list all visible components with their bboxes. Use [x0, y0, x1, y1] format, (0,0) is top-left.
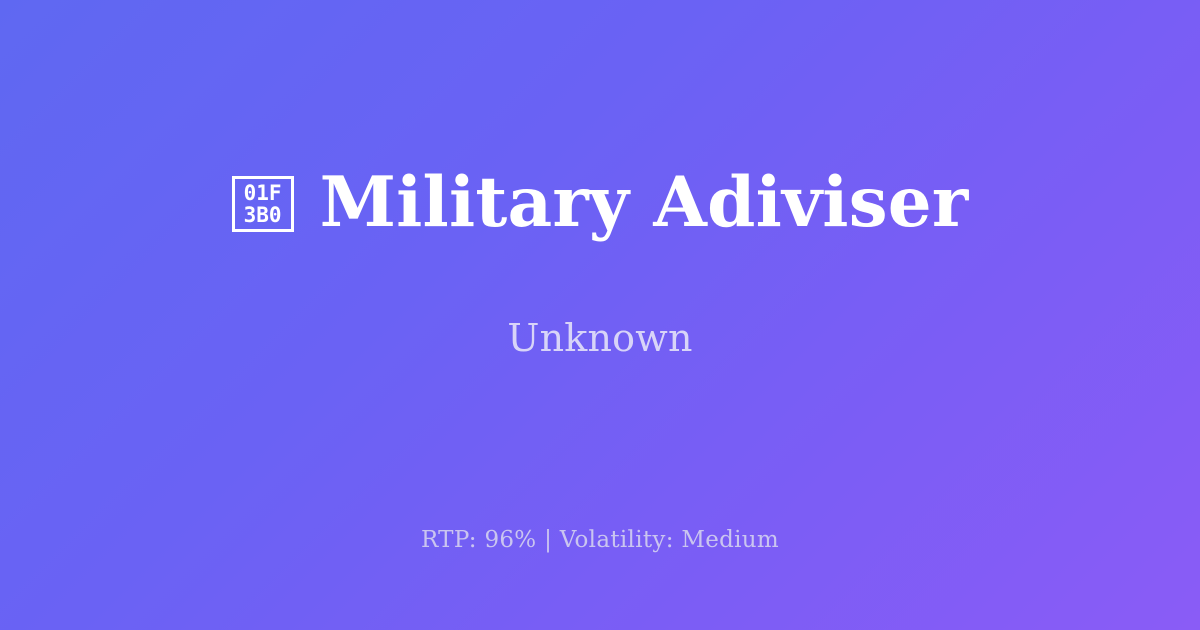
game-meta-row: RTP: 96% | Volatility: Medium: [0, 525, 1200, 555]
title-line: 01F 3B0 Military Adiviser: [0, 155, 1200, 251]
card-hero-block: 01F 3B0 Military Adiviser Unknown: [0, 0, 1200, 470]
og-share-card: 01F 3B0 Military Adiviser Unknown RTP: 9…: [0, 0, 1200, 630]
game-provider-subtitle: Unknown: [507, 315, 692, 361]
tofu-codepoint-bottom: 3B0: [244, 204, 282, 226]
tofu-codepoint-top: 01F: [244, 182, 282, 204]
slot-machine-icon: 01F 3B0: [232, 176, 294, 232]
game-title: Military Adiviser: [320, 160, 969, 246]
rtp-volatility-text: RTP: 96% | Volatility: Medium: [421, 525, 779, 555]
